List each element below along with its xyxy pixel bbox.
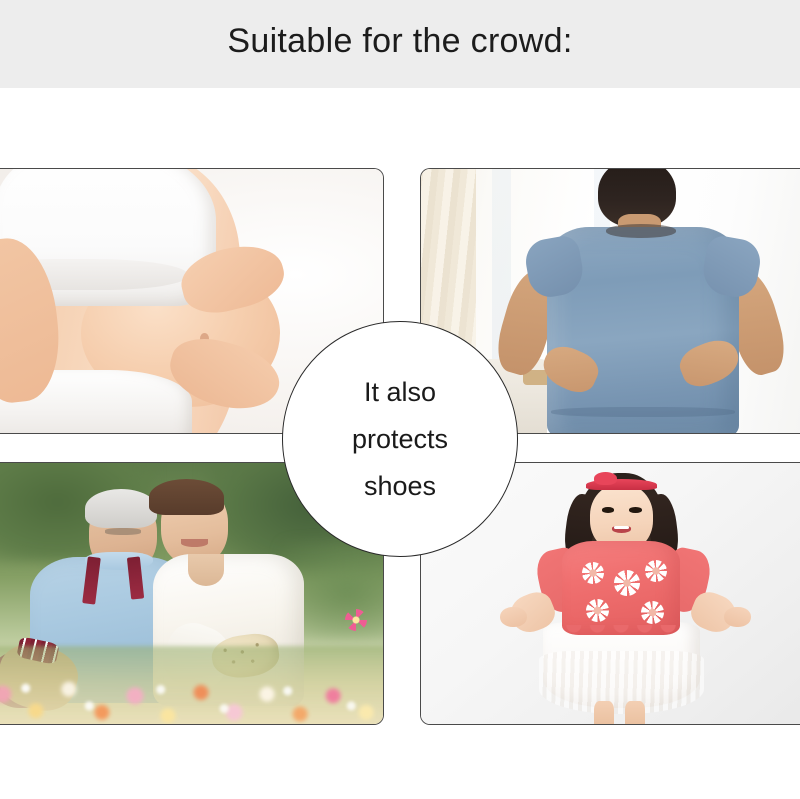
daisy-applique-icon [614, 570, 640, 596]
shirt-hem [551, 407, 736, 418]
poster-root: Suitable for the crowd: [0, 0, 800, 799]
hand-left [500, 607, 528, 628]
man-brow [105, 528, 141, 534]
top-scalloped-hem [562, 625, 680, 641]
eye-right [629, 507, 642, 512]
flower-highlights [0, 661, 383, 724]
page-title: Suitable for the crowd: [0, 22, 800, 61]
center-circle-callout: It also protects shoes [282, 321, 518, 557]
woman-hair-front [149, 479, 224, 516]
man-gray-hair [85, 489, 156, 528]
eye-left [602, 507, 615, 512]
teeth-detail [614, 526, 630, 529]
daisy-applique-icon [645, 560, 667, 582]
daisy-applique-icon [586, 599, 609, 622]
callout-line-2: protects [352, 426, 448, 453]
headband-bow [594, 472, 618, 485]
collar-detail [606, 224, 677, 237]
callout-line-3: shoes [364, 473, 436, 500]
tulle-layers [539, 651, 704, 714]
callout-line-1: It also [364, 379, 436, 406]
leg-left [594, 701, 614, 725]
leg-right [625, 701, 645, 725]
hand-right [724, 607, 752, 628]
woman-smile [181, 539, 209, 547]
woman-vneck [188, 554, 224, 585]
